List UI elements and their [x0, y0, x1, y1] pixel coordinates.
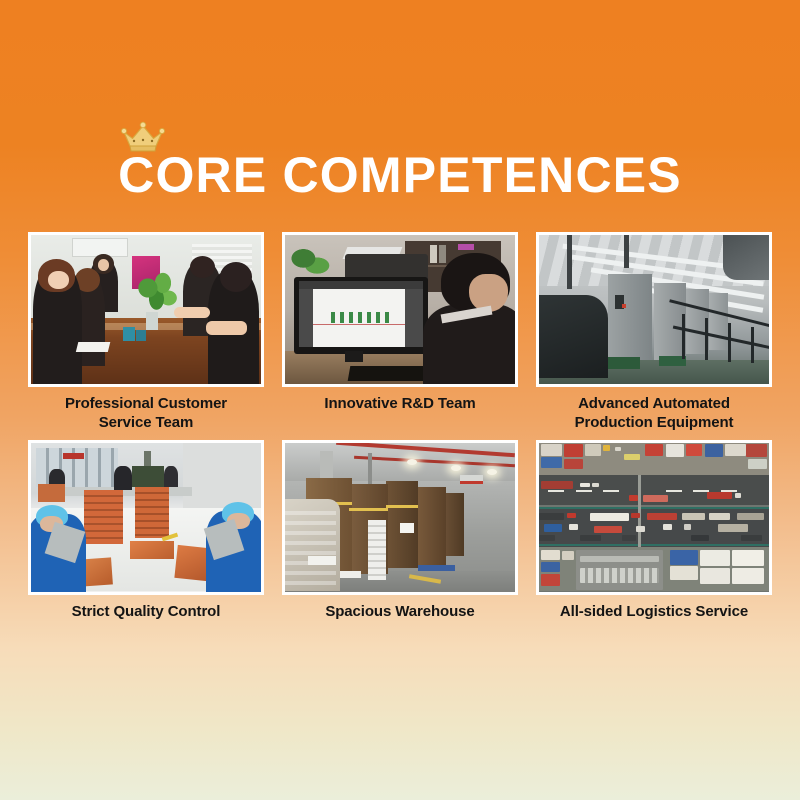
- card-caption-line-1: Spacious Warehouse: [282, 603, 518, 622]
- page-title: CORE COMPETENCES: [118, 147, 682, 203]
- meeting-room-photo: [31, 235, 261, 384]
- header: CORE COMPETENCES: [0, 150, 800, 200]
- title-group: CORE COMPETENCES: [118, 150, 682, 200]
- card-caption: Innovative R&D Team: [282, 395, 518, 414]
- card-caption: All-sided Logistics Service: [536, 603, 772, 622]
- card-thumbnail[interactable]: [282, 232, 518, 387]
- card-thumbnail[interactable]: [28, 440, 264, 595]
- core-competences-banner: CORE COMPETENCES Professiona: [0, 0, 800, 800]
- card-caption-line-2: Production Equipment: [536, 414, 772, 433]
- competence-grid: Professional Customer Service Team: [28, 232, 772, 621]
- card-caption-line-2: Service Team: [28, 414, 264, 433]
- card-thumbnail[interactable]: [28, 232, 264, 387]
- quality-control-photo: [31, 443, 261, 592]
- card-caption-line-1: Innovative R&D Team: [282, 395, 518, 414]
- card-caption-line-1: Strict Quality Control: [28, 603, 264, 622]
- competence-card-spacious-warehouse[interactable]: Spacious Warehouse: [282, 440, 518, 622]
- crown-icon: [120, 120, 166, 154]
- card-caption: Strict Quality Control: [28, 603, 264, 622]
- competence-card-professional-customer-service-team[interactable]: Professional Customer Service Team: [28, 232, 264, 433]
- card-thumbnail[interactable]: [536, 232, 772, 387]
- card-caption: Professional Customer Service Team: [28, 395, 264, 433]
- card-thumbnail[interactable]: [536, 440, 772, 595]
- card-caption-line-1: Advanced Automated: [536, 395, 772, 414]
- rd-designer-photo: [285, 235, 515, 384]
- competence-card-all-sided-logistics-service[interactable]: All-sided Logistics Service: [536, 440, 772, 622]
- warehouse-photo: [285, 443, 515, 592]
- card-caption-line-1: Professional Customer: [28, 395, 264, 414]
- printing-press-photo: [539, 235, 769, 384]
- card-caption: Advanced Automated Production Equipment: [536, 395, 772, 433]
- card-thumbnail[interactable]: [282, 440, 518, 595]
- competence-card-strict-quality-control[interactable]: Strict Quality Control: [28, 440, 264, 622]
- competence-card-innovative-rd-team[interactable]: Innovative R&D Team: [282, 232, 518, 433]
- logistics-aerial-photo: [539, 443, 769, 592]
- competence-card-advanced-automated-production-equipment[interactable]: Advanced Automated Production Equipment: [536, 232, 772, 433]
- card-caption: Spacious Warehouse: [282, 603, 518, 622]
- card-caption-line-1: All-sided Logistics Service: [536, 603, 772, 622]
